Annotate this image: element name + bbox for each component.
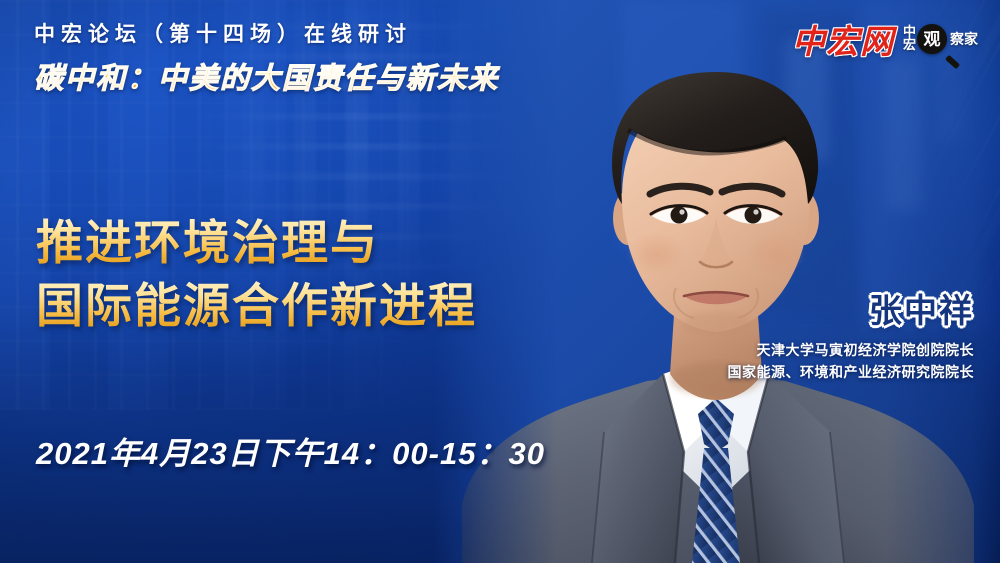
forum-topic-subtitle: 碳中和：中美的大国责任与新未来 [34, 55, 499, 97]
page-title-line-2: 国际能源合作新进程 [36, 275, 477, 338]
speaker-credential-line-2: 国家能源、环境和产业经济研究院院长 [728, 362, 975, 384]
webinar-poster: 中宏论坛（第十四场）在线研讨 碳中和：中美的大国责任与新未来 中宏网 中 宏 观… [0, 0, 1000, 563]
speaker-credentials: 天津大学马寅初经济学院创院院长 国家能源、环境和产业经济研究院院长 [728, 340, 975, 383]
event-datetime: 2021年4月23日下午14：00-15：30 [36, 428, 545, 473]
speaker-credential-line-1: 天津大学马寅初经济学院创院院长 [728, 340, 975, 362]
brand-name-zhonghongwang: 中宏网 [792, 15, 894, 63]
speaker-name: 张中祥 [728, 284, 975, 332]
magnifier-inner-char: 观 [924, 31, 941, 48]
speaker-portrait-photo [432, 0, 1000, 563]
poster-header: 中宏论坛（第十四场）在线研讨 碳中和：中美的大国责任与新未来 [34, 18, 499, 97]
speaker-block: 张中祥 天津大学马寅初经济学院创院院长 国家能源、环境和产业经济研究院院长 [728, 284, 975, 383]
forum-series-label: 中宏论坛（第十四场）在线研讨 [34, 18, 499, 48]
sublogo-tail-chars: 察家 [950, 29, 978, 49]
sublogo-stacked-chars: 中 宏 [903, 26, 916, 51]
page-title-line-1: 推进环境治理与 [36, 212, 477, 275]
magnifier-icon: 观 [917, 24, 947, 54]
page-title: 推进环境治理与 国际能源合作新进程 [36, 212, 477, 338]
observer-sublogo: 中 宏 观 察家 [903, 19, 978, 59]
sublogo-char-bottom: 宏 [903, 39, 916, 52]
brand-logo[interactable]: 中宏网 中 宏 观 察家 [792, 15, 978, 63]
